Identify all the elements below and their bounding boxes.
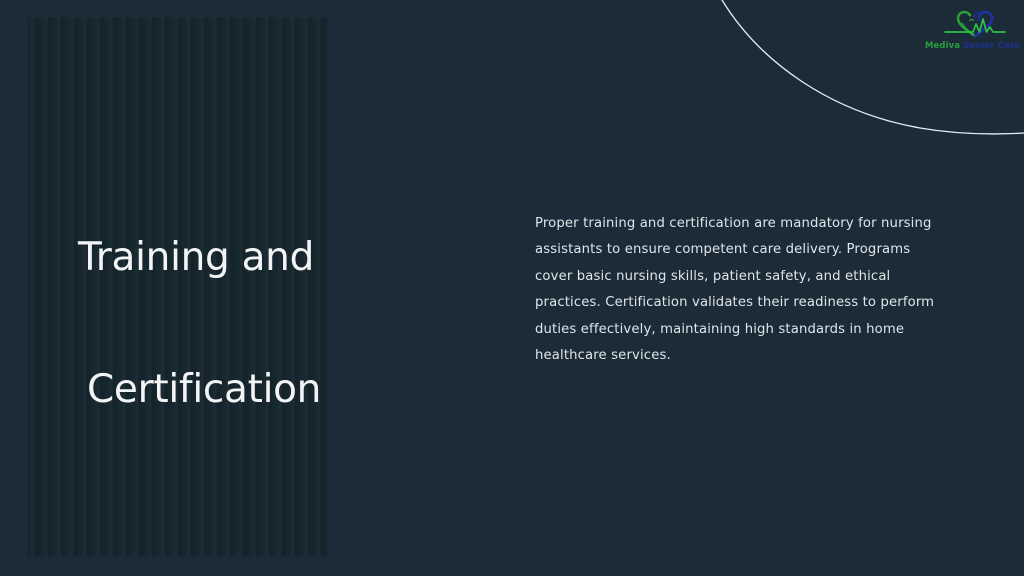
page-title: Training and Certification	[78, 148, 498, 500]
body-paragraph: Proper training and certification are ma…	[535, 211, 935, 369]
brand-name-secondary: Senior Care	[963, 41, 1020, 51]
brand-logo-text: Mediva Senior Care	[925, 41, 1017, 51]
page-title-line-2: Certification	[78, 368, 498, 412]
heart-pulse-icon	[943, 8, 1007, 40]
slide-canvas: Training and Certification Proper traini…	[0, 0, 1024, 576]
brand-name-primary: Mediva	[925, 41, 963, 51]
page-title-line-1: Training and	[78, 236, 498, 280]
brand-logo: Mediva Senior Care	[925, 8, 1017, 58]
